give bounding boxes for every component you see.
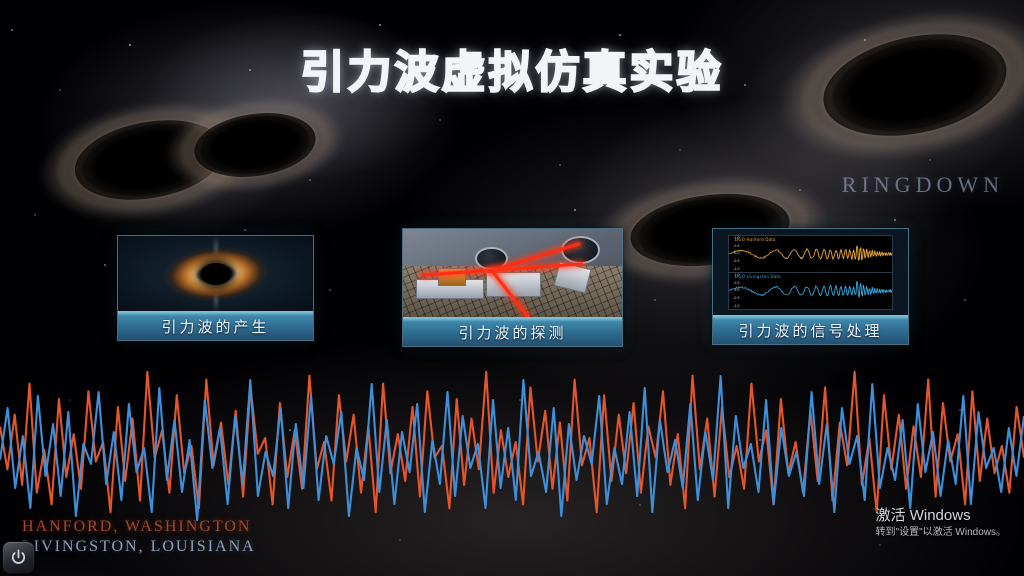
gravitational-wave-simulation-screen: 引力波虚拟仿真实验 RAL RINGDOWN 引力波的产生 xyxy=(0,0,1024,576)
ligo-yaxis-hanford: 1.00.5 0.0-0.5 -1.0 xyxy=(729,236,741,272)
ligo-plot-hanford: LIGO Hanford Data 1.00.5 0.0-0.5 -1.0 xyxy=(729,236,893,273)
windows-activation-watermark: 激活 Windows 转到"设置"以激活 Windows。 xyxy=(876,506,1006,540)
ligo-strain-plot-icon: LIGO Hanford Data 1.00.5 0.0-0.5 -1.0 LI… xyxy=(713,229,908,316)
detector-label-livingston: LIVINGSTON, LOUISIANA xyxy=(22,538,256,556)
power-button[interactable] xyxy=(2,541,35,574)
card-label-bar-detection[interactable]: 引力波的探测 xyxy=(403,317,622,346)
card-label-bar-signal-processing[interactable]: 引力波的信号处理 xyxy=(713,315,908,344)
card-thumbnail-detection xyxy=(403,229,622,318)
detector-label-hanford: HANFORD, WASHINGTON xyxy=(22,518,251,536)
card-wave-generation[interactable]: 引力波的产生 xyxy=(117,235,314,341)
page-title: 引力波虚拟仿真实验 xyxy=(0,36,1024,100)
ligo-yaxis-livingston: 1.00.5 0.0-0.5 -1.0 xyxy=(729,273,741,309)
card-label-bar-generation[interactable]: 引力波的产生 xyxy=(118,311,313,340)
ligo-plot-title-hanford: LIGO Hanford Data xyxy=(735,237,776,242)
black-hole-accretion-disk-icon xyxy=(118,236,313,312)
card-thumbnail-generation xyxy=(118,236,313,312)
background-word-ringdown: RINGDOWN xyxy=(842,172,1004,198)
card-signal-processing[interactable]: LIGO Hanford Data 1.00.5 0.0-0.5 -1.0 LI… xyxy=(712,228,909,345)
card-label-signal-processing: 引力波的信号处理 xyxy=(738,320,882,341)
card-label-detection: 引力波的探测 xyxy=(458,322,566,343)
card-label-generation: 引力波的产生 xyxy=(161,316,269,337)
windows-activation-subtitle: 转到"设置"以激活 Windows。 xyxy=(876,525,1006,540)
card-wave-detection[interactable]: 引力波的探测 xyxy=(402,228,623,347)
power-icon xyxy=(9,548,28,567)
card-thumbnail-signal-processing: LIGO Hanford Data 1.00.5 0.0-0.5 -1.0 LI… xyxy=(713,229,908,316)
optical-bench-icon xyxy=(403,229,622,318)
ligo-plot-livingston: LIGO Livingston Data 1.00.5 0.0-0.5 -1.0 xyxy=(729,273,893,309)
ligo-plot-title-livingston: LIGO Livingston Data xyxy=(735,274,781,279)
windows-activation-title: 激活 Windows xyxy=(876,506,1006,525)
